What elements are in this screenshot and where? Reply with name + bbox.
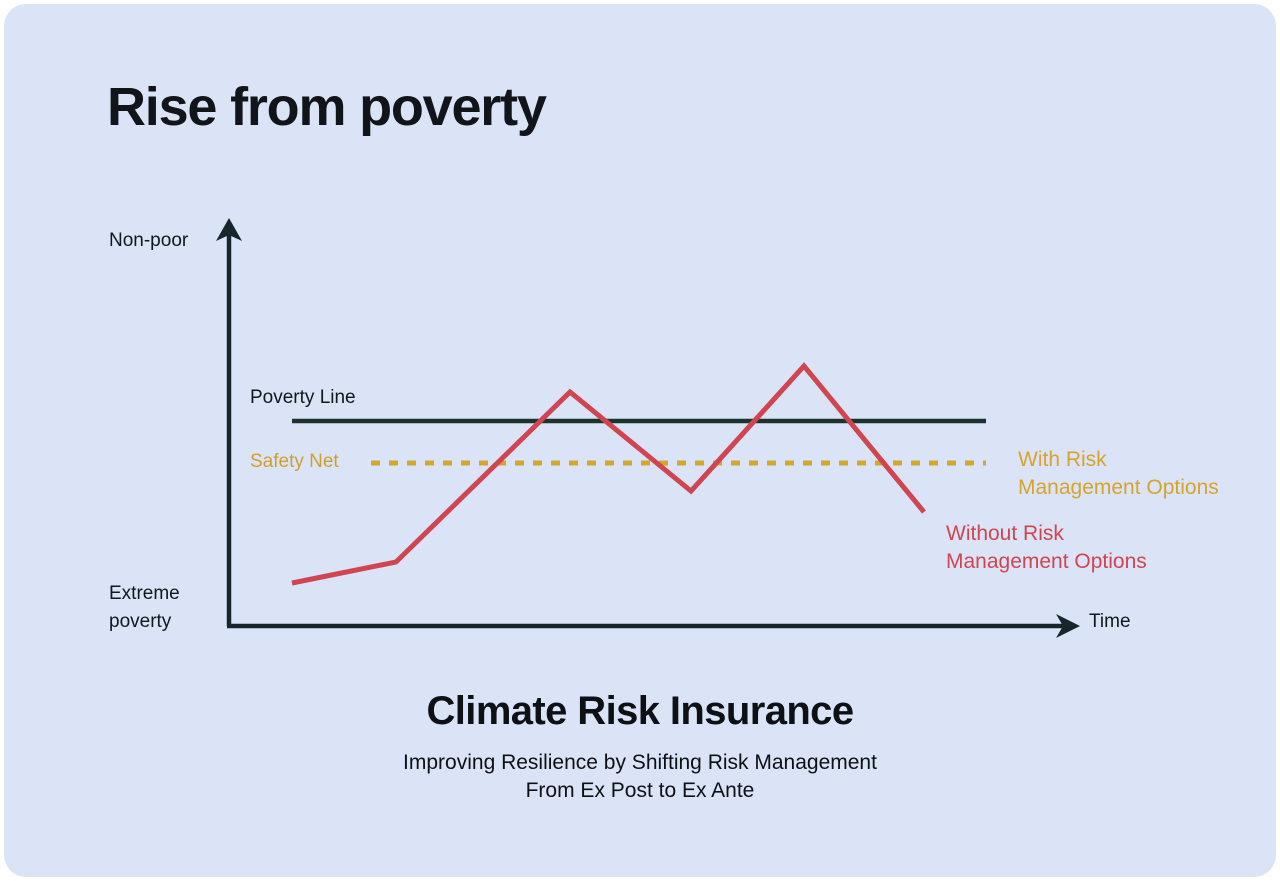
chart-graphic xyxy=(4,4,1276,877)
caption-title: Climate Risk Insurance xyxy=(4,688,1276,734)
x-axis-label: Time xyxy=(1089,608,1131,636)
legend-without-risk-line2: Management Options xyxy=(946,548,1186,576)
legend-without-risk-line1: Without Risk xyxy=(946,520,1186,548)
legend-without-risk: Without Risk Management Options xyxy=(946,520,1186,576)
caption-subtitle-line1: Improving Resilience by Shifting Risk Ma… xyxy=(4,749,1276,777)
caption-subtitle: Improving Resilience by Shifting Risk Ma… xyxy=(4,749,1276,805)
legend-with-risk: With Risk Management Options xyxy=(1018,446,1258,502)
safety-net-label: Safety Net xyxy=(250,451,339,473)
without-risk-series-line xyxy=(292,366,924,583)
y-axis-bottom-label-line2: poverty xyxy=(109,608,229,636)
poverty-line-label: Poverty Line xyxy=(250,387,356,409)
x-axis xyxy=(227,614,1080,638)
legend-with-risk-line2: Management Options xyxy=(1018,474,1258,502)
caption-subtitle-line2: From Ex Post to Ex Ante xyxy=(4,777,1276,805)
legend-with-risk-line1: With Risk xyxy=(1018,446,1258,474)
y-axis xyxy=(216,218,242,626)
y-axis-bottom-label: Extreme poverty xyxy=(109,580,229,636)
y-axis-bottom-label-line1: Extreme xyxy=(109,580,229,608)
y-axis-top-label: Non-poor xyxy=(109,227,188,255)
slide-canvas: Rise from poverty Non-poor Extreme pover… xyxy=(4,4,1276,877)
